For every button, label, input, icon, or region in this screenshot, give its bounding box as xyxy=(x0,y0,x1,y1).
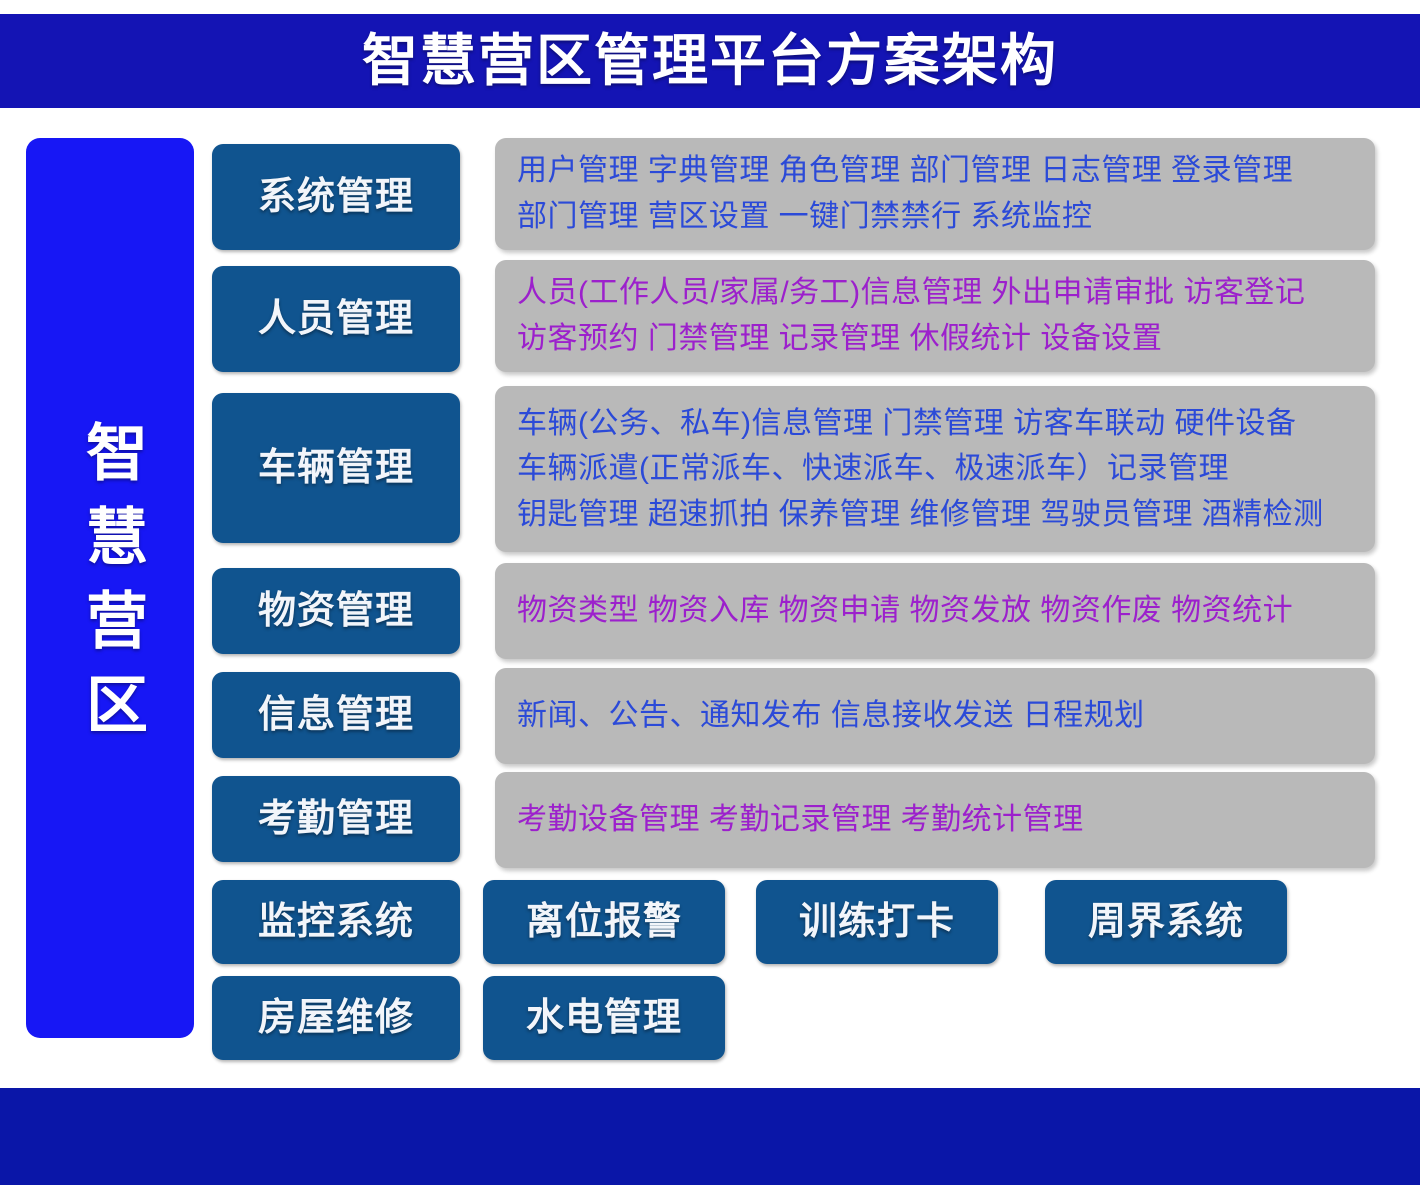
category-box-attendance[interactable]: 考勤管理 xyxy=(212,776,460,862)
panel-line[interactable]: 新闻、公告、通知发布 信息接收发送 日程规划 xyxy=(517,693,1353,739)
category-box-house-repair[interactable]: 房屋维修 xyxy=(212,976,460,1060)
panel-line[interactable]: 车辆派遣(正常派车、快速派车、极速派车）记录管理 xyxy=(517,446,1353,492)
category-label: 车辆管理 xyxy=(258,449,414,487)
panel-line[interactable]: 部门管理 营区设置 一键门禁禁行 系统监控 xyxy=(517,194,1353,240)
page-title: 智慧营区管理平台方案架构 xyxy=(362,33,1058,89)
category-box-materials[interactable]: 物资管理 xyxy=(212,568,460,654)
chip-off-post-alarm[interactable]: 离位报警 xyxy=(483,880,725,964)
panel-line[interactable]: 考勤设备管理 考勤记录管理 考勤统计管理 xyxy=(517,797,1353,843)
category-label: 监控系统 xyxy=(258,903,414,941)
panel-line[interactable]: 车辆(公务、私车)信息管理 门禁管理 访客车联动 硬件设备 xyxy=(517,401,1353,447)
category-box-information[interactable]: 信息管理 xyxy=(212,672,460,758)
platform-spine-label: 智慧营区 xyxy=(66,420,154,756)
category-label: 人员管理 xyxy=(258,300,414,338)
detail-panel-system: 用户管理 字典管理 角色管理 部门管理 日志管理 登录管理 部门管理 营区设置 … xyxy=(495,138,1375,250)
category-box-system[interactable]: 系统管理 xyxy=(212,144,460,250)
chip-utilities-management[interactable]: 水电管理 xyxy=(483,976,725,1060)
category-box-surveillance[interactable]: 监控系统 xyxy=(212,880,460,964)
detail-panel-vehicle: 车辆(公务、私车)信息管理 门禁管理 访客车联动 硬件设备 车辆派遣(正常派车、… xyxy=(495,386,1375,552)
category-box-personnel[interactable]: 人员管理 xyxy=(212,266,460,372)
detail-panel-materials: 物资类型 物资入库 物资申请 物资发放 物资作废 物资统计 xyxy=(495,563,1375,659)
footer-bar xyxy=(0,1088,1420,1185)
chip-label: 离位报警 xyxy=(526,903,682,941)
category-label: 系统管理 xyxy=(258,178,414,216)
chip-training-checkin[interactable]: 训练打卡 xyxy=(756,880,998,964)
title-bar: 智慧营区管理平台方案架构 xyxy=(0,14,1420,108)
chip-label: 水电管理 xyxy=(526,999,682,1037)
panel-line[interactable]: 钥匙管理 超速抓拍 保养管理 维修管理 驾驶员管理 酒精检测 xyxy=(517,492,1353,538)
detail-panel-attendance: 考勤设备管理 考勤记录管理 考勤统计管理 xyxy=(495,772,1375,868)
panel-line[interactable]: 访客预约 门禁管理 记录管理 休假统计 设备设置 xyxy=(517,316,1353,362)
chip-perimeter-system[interactable]: 周界系统 xyxy=(1045,880,1287,964)
detail-panel-information: 新闻、公告、通知发布 信息接收发送 日程规划 xyxy=(495,668,1375,764)
architecture-diagram: 智慧营区管理平台方案架构 智慧营区 系统管理 用户管理 字典管理 角色管理 部门… xyxy=(0,0,1420,1200)
category-box-vehicle[interactable]: 车辆管理 xyxy=(212,393,460,543)
category-label: 房屋维修 xyxy=(258,999,414,1037)
category-label: 信息管理 xyxy=(258,696,414,734)
platform-spine: 智慧营区 xyxy=(26,138,194,1038)
chip-label: 周界系统 xyxy=(1088,903,1244,941)
category-label: 考勤管理 xyxy=(258,800,414,838)
category-label: 物资管理 xyxy=(258,592,414,630)
panel-line[interactable]: 人员(工作人员/家属/务工)信息管理 外出申请审批 访客登记 xyxy=(517,270,1353,316)
chip-label: 训练打卡 xyxy=(799,903,955,941)
panel-line[interactable]: 用户管理 字典管理 角色管理 部门管理 日志管理 登录管理 xyxy=(517,148,1353,194)
panel-line[interactable]: 物资类型 物资入库 物资申请 物资发放 物资作废 物资统计 xyxy=(517,588,1353,634)
detail-panel-personnel: 人员(工作人员/家属/务工)信息管理 外出申请审批 访客登记 访客预约 门禁管理… xyxy=(495,260,1375,372)
